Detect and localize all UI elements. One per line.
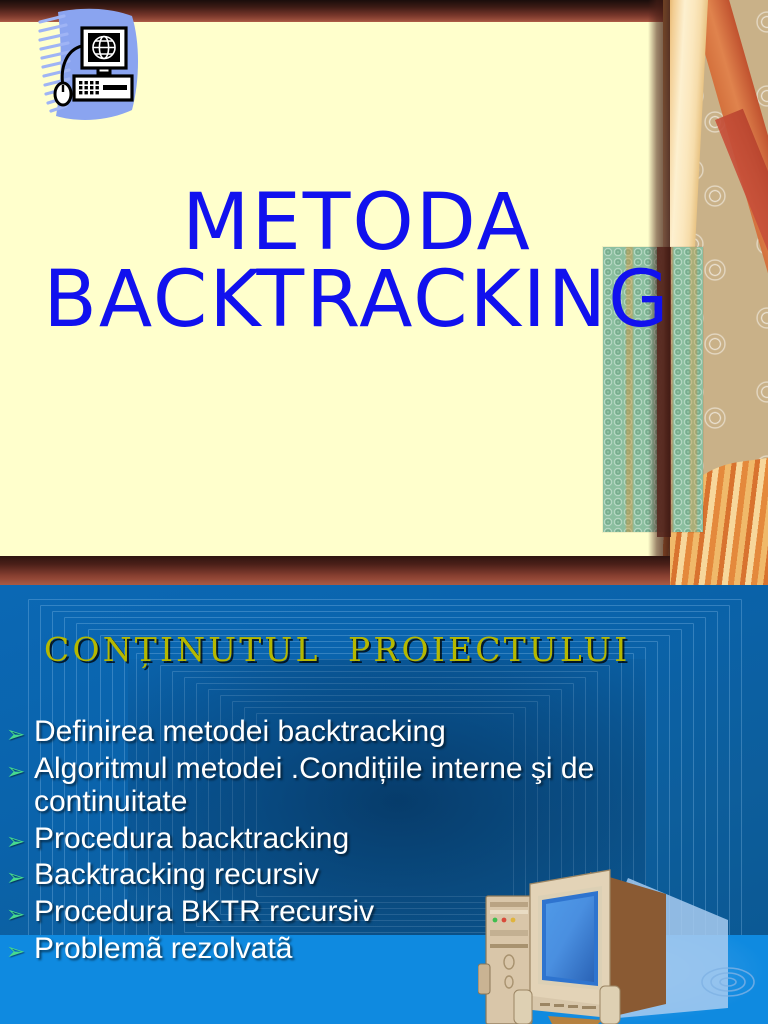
list-item[interactable]: ➢ Problemã rezolvatã — [0, 932, 700, 966]
list-item-label: Definirea metodei backtracking — [34, 715, 700, 749]
page-title: METODA BACKTRACKING — [0, 185, 714, 339]
title-bottom-border-band — [0, 556, 670, 585]
title-slide: METODA BACKTRACKING — [0, 0, 768, 585]
list-item[interactable]: ➢ Definirea metodei backtracking — [0, 715, 700, 749]
list-item[interactable]: ➢ Procedura BKTR recursiv — [0, 895, 700, 929]
computer-globe-clipart-icon — [36, 6, 156, 128]
project-contents-list: ➢ Definirea metodei backtracking ➢ Algor… — [0, 715, 700, 968]
list-item-label: Procedura backtracking — [34, 822, 700, 856]
arrow-bullet-icon: ➢ — [0, 895, 34, 926]
arrow-bullet-icon: ➢ — [0, 752, 34, 783]
list-item[interactable]: ➢ Backtracking recursiv — [0, 858, 700, 892]
list-item-label: Procedura BKTR recursiv — [34, 895, 700, 929]
content-section-heading: CONȚINUTUL PROIECTULUI — [44, 630, 631, 669]
list-item-label: Algoritmul metodei .Condițiile interne ş… — [34, 752, 700, 819]
list-item[interactable]: ➢ Procedura backtracking — [0, 822, 700, 856]
list-item-label: Problemã rezolvatã — [34, 932, 700, 966]
arrow-bullet-icon: ➢ — [0, 858, 34, 889]
arrow-bullet-icon: ➢ — [0, 932, 34, 963]
arrow-bullet-icon: ➢ — [0, 822, 34, 853]
arrow-bullet-icon: ➢ — [0, 715, 34, 746]
list-item[interactable]: ➢ Algoritmul metodei .Condițiile interne… — [0, 752, 700, 819]
list-item-label: Backtracking recursiv — [34, 858, 700, 892]
